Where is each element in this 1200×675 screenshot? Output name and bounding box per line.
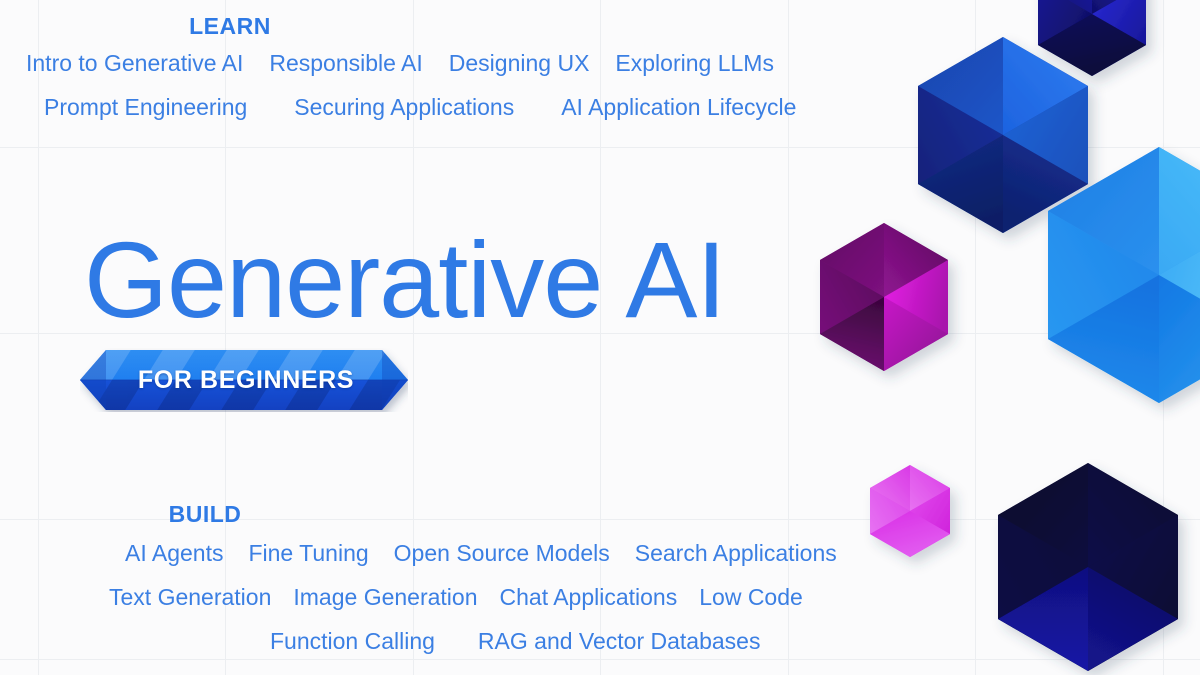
topic-intro-to-generative-ai[interactable]: Intro to Generative AI [26,50,243,77]
build-section-heading: BUILD [0,501,805,528]
topic-rag-and-vector-databases[interactable]: RAG and Vector Databases [478,628,761,655]
topic-text-generation[interactable]: Text Generation [109,584,271,611]
topic-responsible-ai[interactable]: Responsible AI [269,50,422,77]
learn-topics-row-2: Prompt Engineering Securing Applications… [44,94,796,121]
poster-content: LEARN Intro to Generative AI Responsible… [0,0,1200,675]
topic-designing-ux[interactable]: Designing UX [449,50,590,77]
topic-low-code[interactable]: Low Code [699,584,803,611]
learn-topics-row-1: Intro to Generative AI Responsible AI De… [26,50,774,77]
topic-image-generation[interactable]: Image Generation [293,584,477,611]
topic-search-applications[interactable]: Search Applications [635,540,837,567]
page-title: Generative AI [84,226,725,334]
build-topics-row-2: Text Generation Image Generation Chat Ap… [109,584,803,611]
build-topics-row-1: AI Agents Fine Tuning Open Source Models… [125,540,837,567]
learn-section-heading: LEARN [0,13,830,40]
topic-prompt-engineering[interactable]: Prompt Engineering [44,94,247,121]
topic-function-calling[interactable]: Function Calling [270,628,435,655]
topic-chat-applications[interactable]: Chat Applications [500,584,678,611]
for-beginners-badge: FOR BEGINNERS [80,348,408,412]
poster-canvas: LEARN Intro to Generative AI Responsible… [0,0,1200,675]
topic-fine-tuning[interactable]: Fine Tuning [248,540,368,567]
topic-ai-agents[interactable]: AI Agents [125,540,223,567]
build-topics-row-3: Function Calling RAG and Vector Database… [270,628,760,655]
topic-securing-applications[interactable]: Securing Applications [294,94,514,121]
topic-open-source-models[interactable]: Open Source Models [394,540,610,567]
topic-exploring-llms[interactable]: Exploring LLMs [615,50,774,77]
topic-ai-application-lifecycle[interactable]: AI Application Lifecycle [561,94,796,121]
